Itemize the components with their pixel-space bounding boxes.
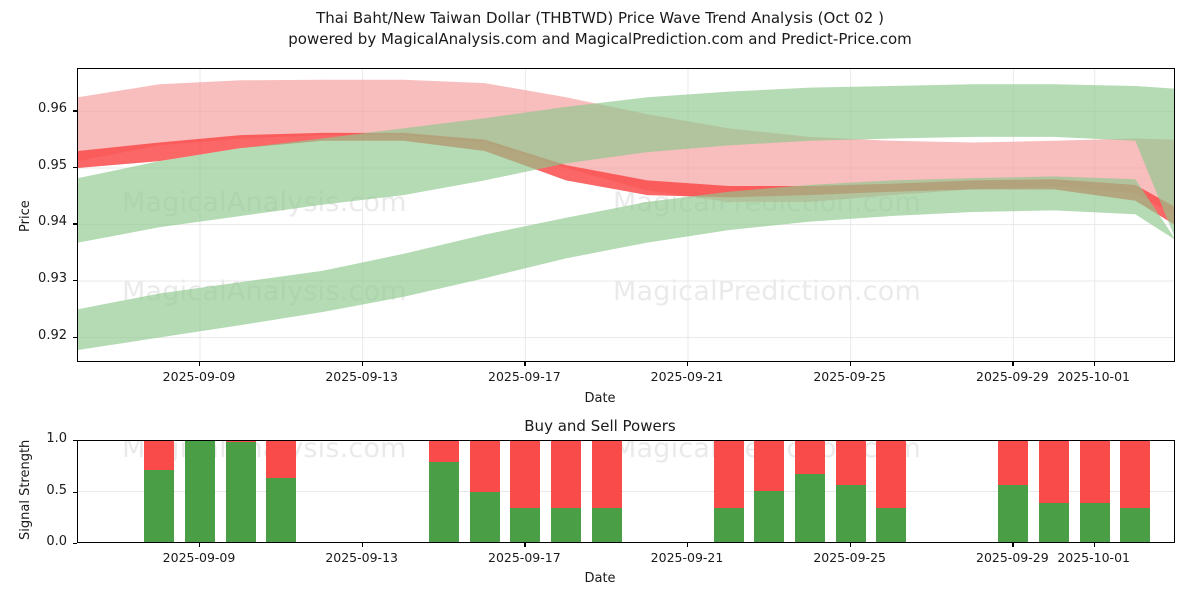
price-x-tick-label: 2025-10-01 [1057,369,1130,384]
price-y-tick-mark [73,337,77,338]
buy-power-segment [551,508,581,542]
signal-x-tick-label: 2025-09-13 [325,550,398,565]
title-line-1: Thai Baht/New Taiwan Dollar (THBTWD) Pri… [0,8,1200,29]
price-x-tick-mark [1094,362,1095,366]
signal-bar[interactable] [185,440,215,542]
price-plot-area: MagicalAnalysis.com MagicalPrediction.co… [77,68,1175,362]
bar-chart-title: Buy and Sell Powers [0,417,1200,435]
price-x-tick-mark [362,362,363,366]
signal-x-tick-label: 2025-09-29 [976,550,1049,565]
signal-plot-area: MagicalAnalysis.com MagicalPrediction.co… [77,440,1175,543]
sell-power-segment [551,440,581,508]
signal-bar[interactable] [470,440,500,542]
buy-power-segment [266,478,296,542]
price-wave-bands [78,69,1175,362]
signal-x-tick-mark [850,543,851,547]
sell-power-segment [795,440,825,474]
sell-power-segment [429,440,459,462]
sell-power-segment [1039,440,1069,503]
signal-y-tick-mark [73,440,77,441]
price-x-tick-mark [1012,362,1013,366]
buy-power-segment [185,440,215,542]
sell-power-segment [266,440,296,478]
signal-y-tick-mark [73,492,77,493]
signal-bar[interactable] [1120,440,1150,542]
price-y-tick-label: 0.92 [0,328,67,343]
sell-power-segment [1080,440,1110,503]
buy-power-segment [998,485,1028,542]
sell-power-segment [998,440,1028,485]
price-x-tick-label: 2025-09-29 [976,369,1049,384]
sell-power-segment [836,440,866,485]
price-x-tick-mark [850,362,851,366]
signal-bar[interactable] [510,440,540,542]
sell-power-segment [510,440,540,508]
signal-bar[interactable] [1039,440,1069,542]
price-y-axis-title: Price [18,200,33,232]
signal-x-tick-label: 2025-09-17 [488,550,561,565]
buy-power-segment [876,508,906,542]
buy-power-segment [795,474,825,542]
price-y-tick-mark [73,223,77,224]
signal-chart-panel: MagicalAnalysis.com MagicalPrediction.co… [77,440,1175,543]
price-y-tick-mark [73,110,77,111]
buy-power-segment [592,508,622,542]
signal-x-tick-mark [199,543,200,547]
signal-y-tick-mark [73,543,77,544]
price-x-tick-mark [524,362,525,366]
signal-y-tick-label: 0.0 [0,534,67,549]
price-y-tick-label: 0.95 [0,158,67,173]
signal-x-tick-label: 2025-10-01 [1057,550,1130,565]
signal-bar[interactable] [1080,440,1110,542]
price-chart-panel: MagicalAnalysis.com MagicalPrediction.co… [77,68,1175,362]
title-line-2: powered by MagicalAnalysis.com and Magic… [0,29,1200,50]
signal-y-tick-label: 0.5 [0,483,67,498]
buy-power-segment [144,470,174,542]
price-y-tick-label: 0.96 [0,101,67,116]
buy-power-segment [1039,503,1069,542]
chart-page: Thai Baht/New Taiwan Dollar (THBTWD) Pri… [0,0,1200,600]
sell-power-segment [470,440,500,492]
signal-y-axis-title: Signal Strength [18,440,33,540]
price-x-tick-label: 2025-09-25 [813,369,886,384]
signal-x-axis-title: Date [584,571,615,586]
sell-power-segment [144,440,174,470]
price-x-tick-label: 2025-09-21 [651,369,724,384]
sell-power-segment [876,440,906,508]
signal-x-tick-label: 2025-09-21 [651,550,724,565]
signal-x-tick-label: 2025-09-09 [163,550,236,565]
signal-bar[interactable] [754,440,784,542]
signal-bar[interactable] [551,440,581,542]
signal-x-tick-mark [1094,543,1095,547]
signal-x-tick-mark [687,543,688,547]
sell-power-segment [1120,440,1150,508]
price-y-tick-mark [73,280,77,281]
price-x-tick-label: 2025-09-09 [163,369,236,384]
signal-bar[interactable] [836,440,866,542]
signal-x-tick-label: 2025-09-25 [813,550,886,565]
price-x-tick-mark [199,362,200,366]
price-y-tick-label: 0.93 [0,271,67,286]
signal-bar[interactable] [266,440,296,542]
sell-power-segment [714,440,744,508]
signal-y-tick-label: 1.0 [0,431,67,446]
signal-x-tick-mark [1012,543,1013,547]
buy-power-segment [1120,508,1150,542]
price-x-tick-label: 2025-09-13 [325,369,398,384]
buy-power-segment [429,462,459,542]
buy-power-segment [836,485,866,542]
sell-power-segment [754,440,784,491]
price-x-tick-mark [687,362,688,366]
buy-power-segment [470,492,500,542]
signal-bar[interactable] [226,440,256,542]
signal-x-tick-mark [362,543,363,547]
buy-power-segment [226,442,256,542]
buy-power-segment [714,508,744,542]
page-title: Thai Baht/New Taiwan Dollar (THBTWD) Pri… [0,8,1200,50]
buy-power-segment [1080,503,1110,542]
signal-bar[interactable] [876,440,906,542]
price-y-tick-mark [73,167,77,168]
signal-bar[interactable] [592,440,622,542]
buy-power-segment [754,491,784,543]
sell-power-segment [592,440,622,508]
price-x-tick-label: 2025-09-17 [488,369,561,384]
signal-x-tick-mark [524,543,525,547]
signal-bar[interactable] [998,440,1028,542]
signal-bar[interactable] [429,440,459,542]
signal-bar[interactable] [144,440,174,542]
price-x-axis-title: Date [584,391,615,406]
price-y-tick-label: 0.94 [0,214,67,229]
buy-power-segment [510,508,540,542]
signal-bar[interactable] [795,440,825,542]
signal-bar[interactable] [714,440,744,542]
